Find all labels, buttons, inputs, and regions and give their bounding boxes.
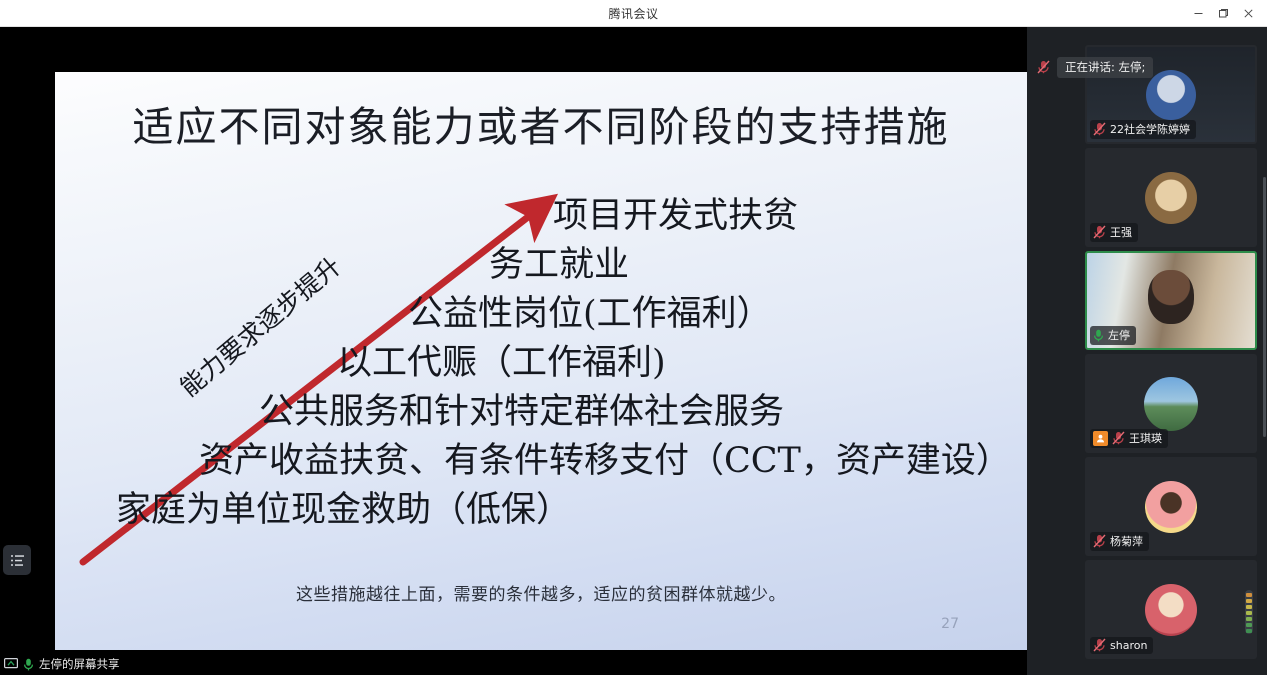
screen-share-icon <box>4 658 18 670</box>
participant-nameplate: 王琪瑛 <box>1090 429 1168 448</box>
participant-name: 王琪瑛 <box>1129 430 1162 446</box>
minimize-button[interactable] <box>1186 0 1211 27</box>
participant-rail: 正在讲话: 左停; 22社会学陈婷婷 <box>1027 27 1267 675</box>
microphone-muted-icon <box>1037 60 1050 74</box>
microphone-muted-icon <box>1093 122 1106 136</box>
avatar <box>1145 172 1197 224</box>
microphone-muted-icon <box>1093 638 1106 652</box>
participant-tile[interactable]: 王强 <box>1085 148 1257 247</box>
maximize-button[interactable] <box>1211 0 1236 27</box>
participant-tile[interactable]: sharon <box>1085 560 1257 659</box>
tencent-meeting-window: 腾讯会议 适应不同对象能力或者不同阶段的支持措施 <box>0 0 1267 675</box>
person-icon <box>1096 434 1105 443</box>
participant-nameplate: 22社会学陈婷婷 <box>1090 120 1196 139</box>
shared-screen-stage[interactable]: 适应不同对象能力或者不同阶段的支持措施 能力要求逐步提升 项目开发式扶贫 务工就… <box>0 27 1027 675</box>
slide-line: 资产收益扶贫、有条件转移支付（CCT，资产建设） <box>199 437 1027 486</box>
microphone-muted-icon <box>1093 225 1106 239</box>
slide-line: 项目开发式扶贫 <box>553 192 1027 241</box>
microphone-icon <box>1093 329 1104 342</box>
list-view-button[interactable] <box>3 545 31 575</box>
slide-line: 以工代赈（工作福利) <box>337 339 1027 388</box>
participant-name: 王强 <box>1110 224 1132 240</box>
participant-nameplate: sharon <box>1090 637 1153 654</box>
participant-tile[interactable]: 王琪瑛 <box>1085 354 1257 453</box>
participant-nameplate: 杨菊萍 <box>1090 532 1149 551</box>
participant-nameplate: 王强 <box>1090 223 1138 242</box>
participant-name: 左停 <box>1108 327 1130 343</box>
slide-line: 家庭为单位现金救助（低保） <box>116 486 1027 535</box>
slide-line: 公益性岗位(工作福利） <box>408 290 1027 339</box>
speaking-banner: 正在讲话: 左停; <box>1027 55 1267 79</box>
slide-page-number: 27 <box>941 616 959 632</box>
participant-nameplate: 左停 <box>1090 326 1136 345</box>
slide-line: 务工就业 <box>489 241 1027 290</box>
slide-body-lines: 项目开发式扶贫 务工就业 公益性岗位(工作福利） 以工代赈（工作福利) 公共服务… <box>55 192 1027 535</box>
participant-tile[interactable]: 杨菊萍 <box>1085 457 1257 556</box>
microphone-muted-icon <box>1093 534 1106 548</box>
avatar <box>1145 481 1197 533</box>
window-controls <box>1186 0 1267 27</box>
host-badge <box>1093 431 1108 446</box>
slide-footnote: 这些措施越往上面，需要的条件越多，适应的贫困群体就越少。 <box>55 580 1027 605</box>
avatar <box>1144 377 1198 431</box>
screen-share-status-bar: 左停的屏幕共享 <box>0 653 1027 675</box>
close-button[interactable] <box>1236 0 1261 27</box>
participant-tiles: 22社会学陈婷婷 王强 <box>1075 27 1267 675</box>
avatar <box>1145 584 1197 636</box>
participant-name: sharon <box>1110 639 1147 652</box>
microphone-icon <box>23 658 34 671</box>
presentation-slide: 适应不同对象能力或者不同阶段的支持措施 能力要求逐步提升 项目开发式扶贫 务工就… <box>55 72 1027 650</box>
participant-tile-active-speaker[interactable]: 左停 <box>1085 251 1257 350</box>
participant-rail-scrollbar[interactable] <box>1263 177 1266 437</box>
slide-line: 公共服务和针对特定群体社会服务 <box>259 388 1027 437</box>
participant-name: 22社会学陈婷婷 <box>1110 121 1190 137</box>
audio-level-meter <box>1245 590 1253 634</box>
speaking-banner-label: 正在讲话: 左停; <box>1057 57 1153 78</box>
participant-video-subject <box>1148 270 1194 324</box>
window-title: 腾讯会议 <box>608 5 658 22</box>
screen-share-status-label: 左停的屏幕共享 <box>39 656 120 672</box>
participant-name: 杨菊萍 <box>1110 533 1143 549</box>
title-bar: 腾讯会议 <box>0 0 1267 27</box>
list-icon <box>10 554 25 567</box>
slide-title: 适应不同对象能力或者不同阶段的支持措施 <box>55 104 1027 151</box>
microphone-muted-icon <box>1112 431 1125 445</box>
